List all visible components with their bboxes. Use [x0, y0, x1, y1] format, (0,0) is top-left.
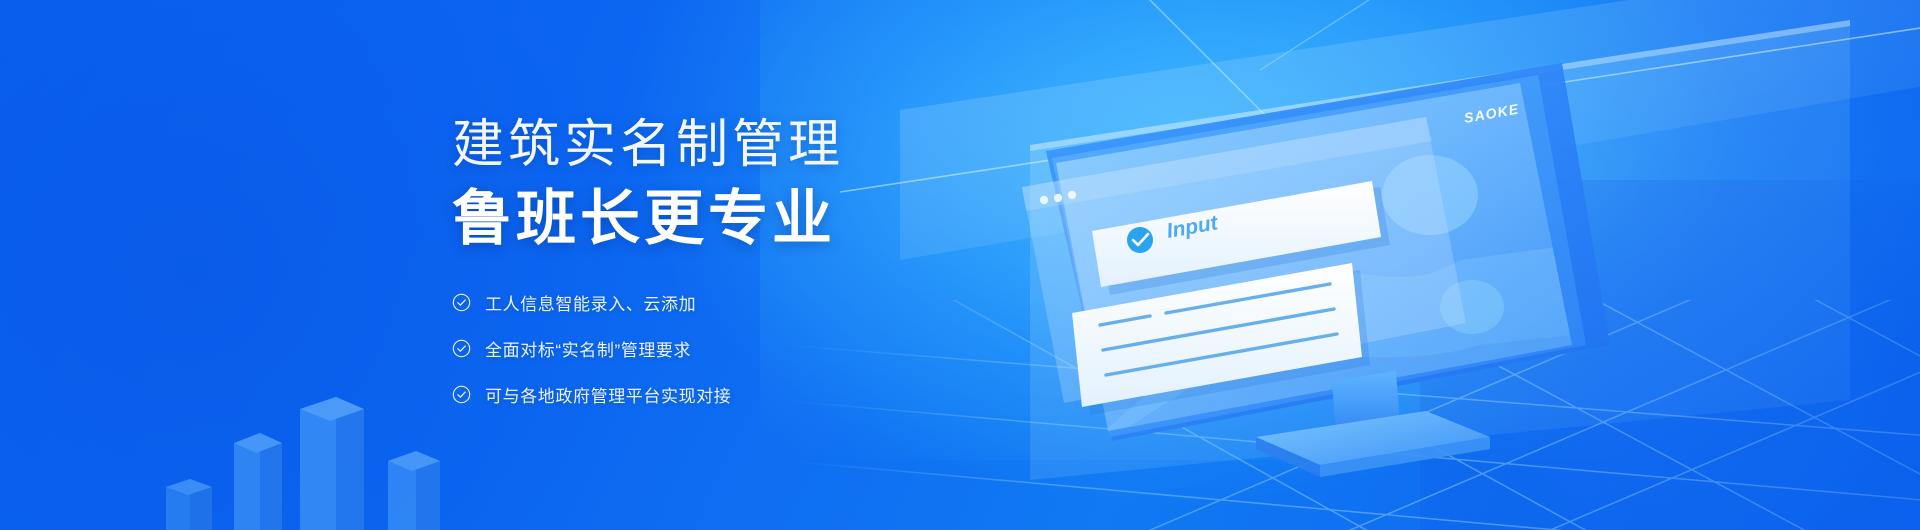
monitor-illustration: Input SAOKE [960, 45, 1680, 505]
list-item: 可与各地政府管理平台实现对接 [452, 380, 992, 408]
background-glow-right [1420, 180, 1920, 530]
decorative-3d-bars [150, 395, 480, 530]
brand-watermark: SAOKE [1463, 101, 1521, 126]
decorative-diagonal-planes [840, 0, 1920, 480]
list-item: 工人信息智能录入、云添加 [452, 288, 992, 316]
hero-banner: Input SAOKE [0, 0, 1920, 530]
check-circle-icon [452, 385, 471, 404]
check-circle-icon [452, 339, 471, 358]
feature-label: 可与各地政府管理平台实现对接 [485, 382, 731, 407]
feature-list: 工人信息智能录入、云添加 全面对标“实名制”管理要求 可与各地政府管理平台实现对… [452, 288, 992, 408]
feature-label: 工人信息智能录入、云添加 [485, 290, 696, 315]
headline-secondary: 鲁班长更专业 [452, 180, 992, 258]
hero-copy: 建筑实名制管理 鲁班长更专业 工人信息智能录入、云添加 全面对标“实名制”管理要… [452, 112, 992, 408]
check-circle-icon [452, 293, 471, 312]
list-item: 全面对标“实名制”管理要求 [452, 334, 992, 362]
input-card-label: Input [1165, 211, 1221, 243]
feature-label: 全面对标“实名制”管理要求 [485, 336, 691, 361]
headline-primary: 建筑实名制管理 [452, 112, 992, 178]
